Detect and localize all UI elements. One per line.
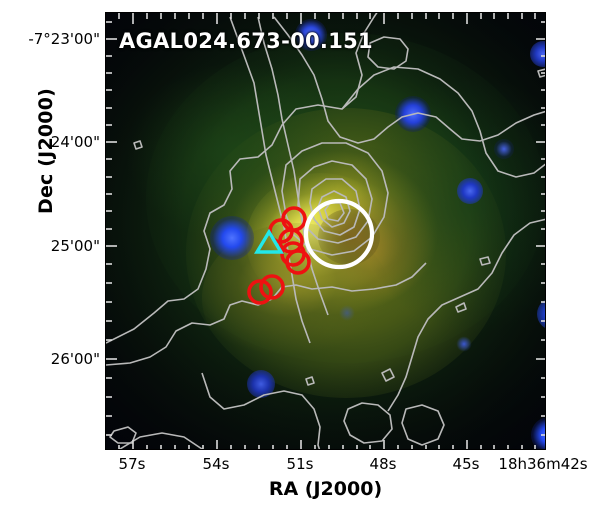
x-tick-label: 51s [287,455,314,473]
x-tick-label: 54s [203,455,230,473]
y-tick-label: 26'00" [4,350,100,368]
x-tick-label: 45s [453,455,480,473]
figure-root: -7°23'00" 24'00" 25'00" 26'00" Dec (J200… [0,0,605,512]
x-axis-label: RA (J2000) [105,478,546,500]
x-tick-label: 18h36m42s [498,455,587,473]
sky-image-panel[interactable]: AGAL024.673-00.151 [105,12,546,450]
source-markers [249,201,372,303]
y-axis-label: Dec (J2000) [35,51,57,251]
y-tick-label: -7°23'00" [4,30,100,48]
dust-continuum-contours [106,13,546,450]
x-tick-label: 48s [370,455,397,473]
x-tick-label: 57s [119,455,146,473]
source-title: AGAL024.673-00.151 [119,29,373,53]
contour-and-marker-overlay [106,13,546,450]
